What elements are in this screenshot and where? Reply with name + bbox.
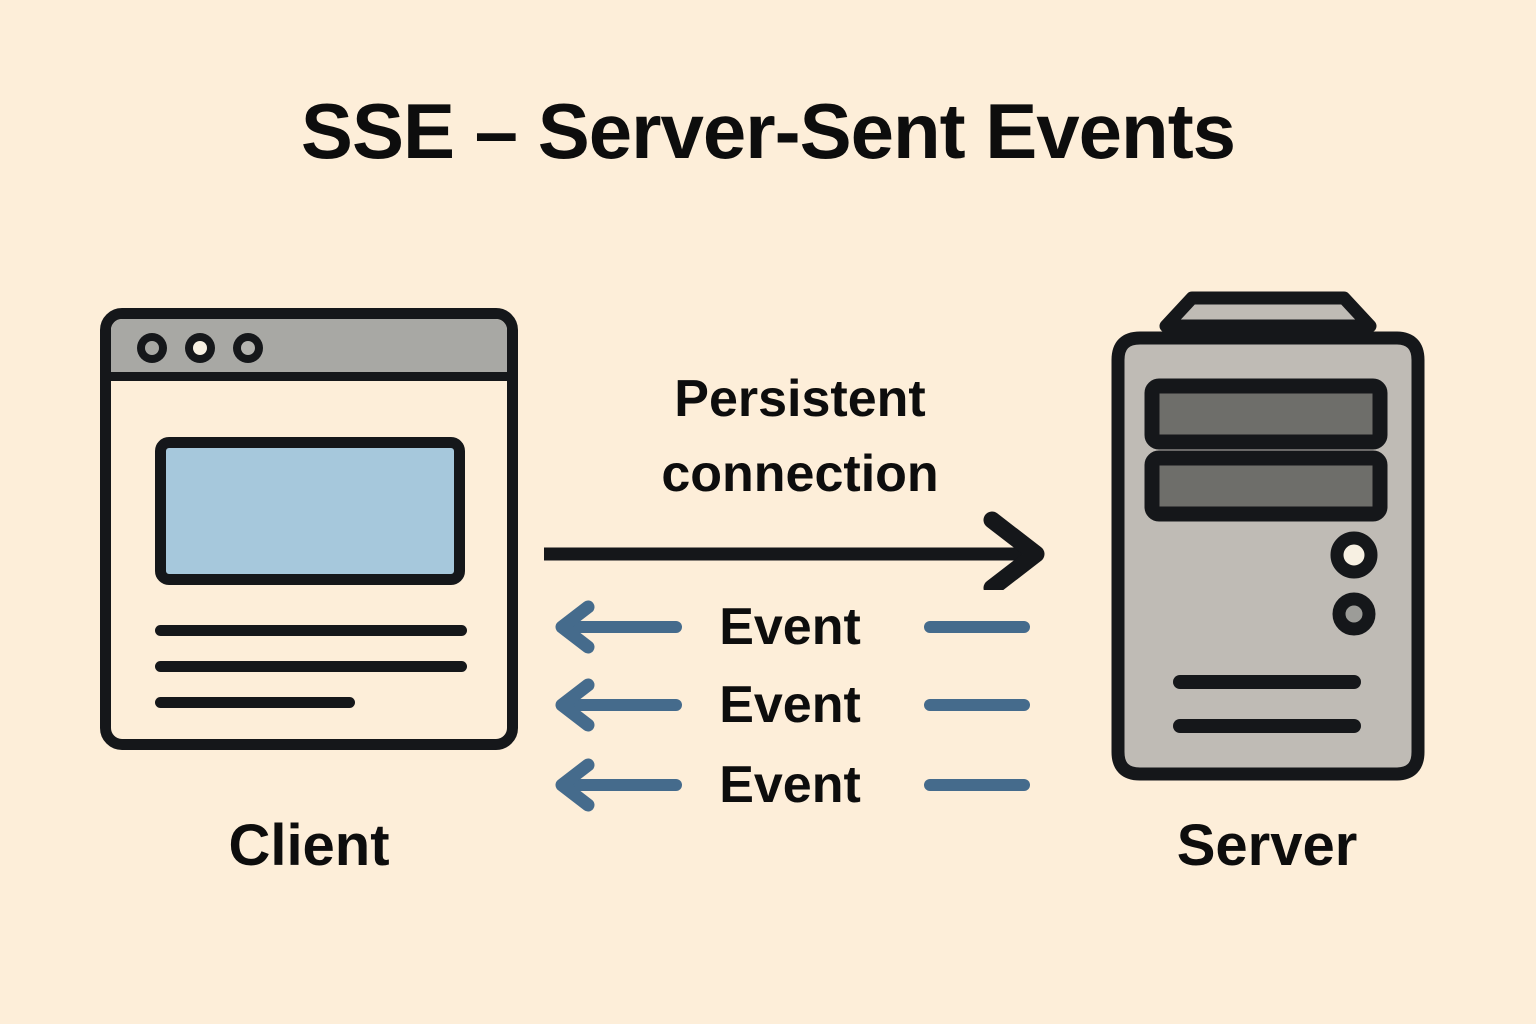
diagram-canvas: SSE – Server-Sent Events Client [0, 0, 1536, 1024]
event-label: Event [700, 754, 880, 816]
server-top-panel [1166, 298, 1370, 326]
server-label: Server [1092, 812, 1442, 879]
persistent-connection-line-1: Persistent [580, 362, 1020, 437]
event-row: Event [540, 754, 1040, 818]
persistent-connection-line-2: connection [580, 437, 1020, 512]
browser-text-line-1 [155, 625, 467, 636]
client-label: Client [100, 812, 518, 879]
browser-content-image [155, 437, 465, 585]
event-label: Event [700, 674, 880, 736]
event-row: Event [540, 596, 1040, 660]
server-indicator-light-2 [1339, 599, 1369, 629]
window-dot-3-icon [233, 333, 263, 363]
window-dot-2-icon [185, 333, 215, 363]
server-indicator-light-1 [1337, 538, 1371, 572]
server-drive-bay-1 [1152, 386, 1380, 442]
page-title: SSE – Server-Sent Events [0, 86, 1536, 177]
event-row: Event [540, 674, 1040, 738]
event-label: Event [700, 596, 880, 658]
server-drive-bay-2 [1152, 458, 1380, 514]
browser-titlebar [111, 319, 507, 381]
server-tower-icon [1092, 282, 1442, 788]
persistent-connection-label: Persistent connection [580, 362, 1020, 513]
window-dot-1-icon [137, 333, 167, 363]
browser-text-line-3 [155, 697, 355, 708]
client-browser-window [100, 308, 518, 750]
browser-text-line-2 [155, 661, 467, 672]
persistent-connection-arrow [540, 510, 1050, 590]
